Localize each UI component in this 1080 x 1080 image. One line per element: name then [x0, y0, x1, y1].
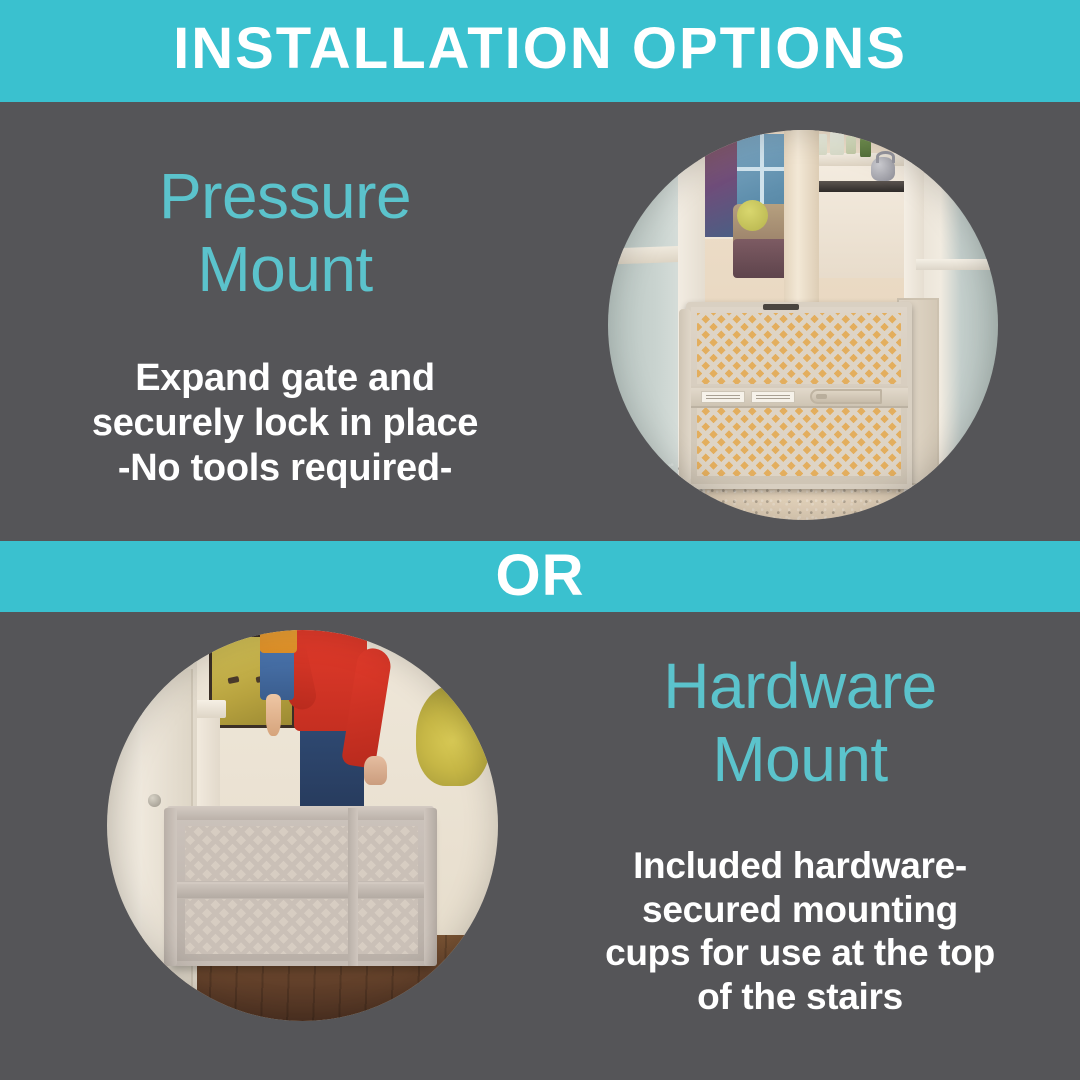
gate-warning-label-1: [701, 391, 744, 403]
gate-top-bar: [167, 806, 434, 820]
woman-hand: [364, 756, 387, 784]
pressure-mount-photo: [608, 130, 998, 520]
pressure-mounted-gate: [686, 302, 912, 489]
baby-leg: [266, 694, 281, 735]
hardware-mount-copy: Hardware Mount Included hardware- secure…: [545, 650, 1055, 1019]
hardware-mount-heading: Hardware Mount: [545, 650, 1055, 796]
gate-post-middle: [348, 808, 358, 967]
kettle: [871, 157, 894, 180]
gate-latch-handle: [810, 389, 882, 404]
baby-jeans: [260, 648, 294, 700]
pressure-mount-body-line1: Expand gate and: [30, 356, 540, 401]
forsythia-plant: [416, 685, 490, 787]
gate-top-slot: [763, 304, 799, 310]
gate-post-right: [424, 808, 437, 967]
gate-post-left: [164, 808, 177, 967]
pressure-mount-heading: Pressure Mount: [30, 160, 540, 306]
gate-center-rail: [691, 386, 908, 408]
infographic-page: INSTALLATION OPTIONS Pressure Mount Expa…: [0, 0, 1080, 1080]
pressure-mount-scene: [608, 130, 998, 520]
hardware-mount-photo: [107, 630, 498, 1021]
chair-rail-right: [916, 259, 998, 271]
wall-column: [784, 130, 819, 302]
gate-mesh-upper-left: [185, 826, 347, 881]
hardware-mount-body-line2: secured mounting: [545, 888, 1055, 932]
shelf-jar-2: [830, 132, 844, 155]
pressure-mount-body-line2: securely lock in place: [30, 401, 540, 446]
hardware-mount-body-line3: cups for use at the top: [545, 931, 1055, 975]
pressure-mount-body: Expand gate and securely lock in place -…: [30, 356, 540, 490]
hardware-mount-body-line4: of the stairs: [545, 975, 1055, 1019]
chair-rail-left: [616, 246, 687, 264]
gate-mesh-lower: [697, 408, 901, 475]
hardware-mount-heading-line2: Mount: [545, 723, 1055, 796]
pressure-mount-copy: Pressure Mount Expand gate and securely …: [30, 160, 540, 490]
hardware-mount-body: Included hardware- secured mounting cups…: [545, 844, 1055, 1019]
hardware-mount-heading-line1: Hardware: [545, 650, 1055, 723]
pressure-mount-heading-line2: Mount: [30, 233, 540, 306]
gate-center-rail-bottom: [175, 882, 427, 897]
hardware-mount-scene: [107, 630, 498, 1021]
header-band: INSTALLATION OPTIONS: [0, 0, 1080, 102]
hardware-mount-body-line1: Included hardware-: [545, 844, 1055, 888]
pressure-mount-body-line3: -No tools required-: [30, 446, 540, 491]
gate-mesh-lower-left: [185, 899, 347, 954]
gate-mesh-upper-right: [358, 826, 418, 881]
sofa-pillow: [737, 200, 768, 231]
shelf-jar-3: [846, 136, 856, 154]
door-knob: [148, 794, 161, 807]
gate-warning-label-2: [751, 391, 794, 403]
shelf-plant: [860, 132, 872, 157]
baby-orange-top: [260, 630, 297, 653]
hardware-mounted-gate: [170, 814, 432, 966]
page-title: INSTALLATION OPTIONS: [173, 20, 907, 78]
or-label: OR: [496, 547, 585, 605]
gate-mesh-lower-right: [358, 899, 418, 954]
gate-hinge: [679, 309, 690, 481]
or-divider-band: OR: [0, 541, 1080, 612]
gate-mesh-upper: [697, 313, 901, 384]
pressure-mount-heading-line1: Pressure: [30, 160, 540, 233]
wall-art-detail-1: [227, 676, 239, 684]
